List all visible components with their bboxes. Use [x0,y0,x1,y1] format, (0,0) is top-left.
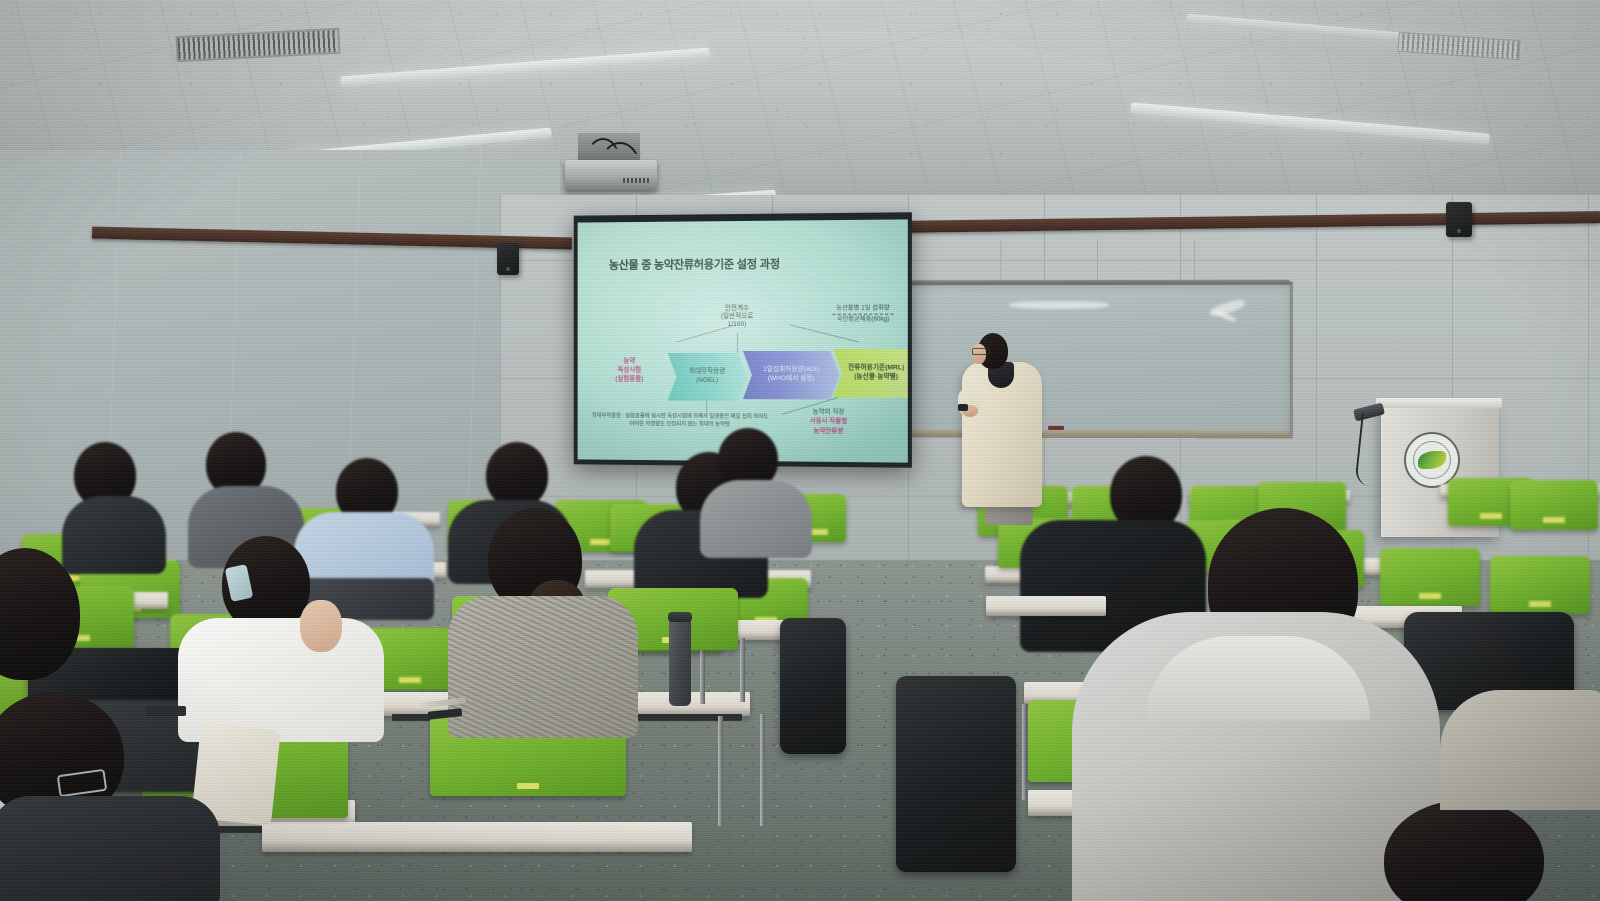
student-torso [700,480,812,558]
residue-note-line-3: 농약잔류량 [780,426,877,436]
desk-leg-5 [1022,704,1027,800]
noel-line-2: (NOEL) [689,377,725,386]
projected-slide: 농산물 중 농약잔류허용기준 설정 과정 안전계수 (일반적으로 1/100) … [578,219,908,462]
whiteboard-marker[interactable] [1048,426,1064,430]
chair-back-13[interactable] [1510,480,1598,530]
toxicity-line-2: 독성시험 [593,366,665,375]
student-torso [1440,690,1600,810]
crest-leaf-shape [1418,451,1446,469]
student-head [486,442,548,508]
desk-leg-2 [760,714,765,826]
slide-intake-fraction-box: 농산물별 1일 섭취량 국민평균체중(60kg) [824,305,901,324]
slide-toxicity-test-label: 농약 독성시험 (실험동물) [593,357,665,385]
lecture-hall-photo: 농산물 중 농약잔류허용기준 설정 과정 안전계수 (일반적으로 1/100) … [0,0,1600,901]
intake-denominator: 국민평균체중(60kg) [824,315,901,323]
lectern-top [1376,398,1502,408]
slide-safety-factor-box: 안전계수 (일반적으로 1/100) [702,305,772,330]
safety-factor-line-2: (일반적으로 [702,313,772,321]
toxicity-line-3: (실험동물) [593,375,665,384]
intake-numerator: 농산물별 1일 섭취량 [824,305,901,313]
student-hand [300,600,342,652]
crest-inner-ring [1413,441,1451,479]
toxicity-line-1: 농약 [593,357,665,366]
wall-speaker-left [497,243,519,275]
adi-line-2: (WHO에서 설정) [763,375,819,384]
whiteboard-erasure-mark-1 [1009,301,1109,309]
desk-right-mid [986,596,1106,616]
backpack-right[interactable] [896,676,1016,872]
slide-chevron-mrl: 잔류허용기준(MRL) (농산물·농약별) [833,349,907,398]
lecturer-glasses-icon [972,348,990,355]
slide-noel-definition-note: 최대무작용량 : 실험동물에 실시한 독성시험에 의해서 일생동안 매일 섭취 … [591,412,769,429]
ceiling-projector [565,160,657,190]
chair-mid-10[interactable] [1490,556,1590,614]
chair-mid-9[interactable] [1380,548,1480,606]
slide-title: 농산물 중 농약잔류허용기준 설정 과정 [609,255,858,273]
student-torso [62,496,166,574]
phone-on-desk-left[interactable] [146,706,186,716]
connector-safety-to-adi [737,333,738,353]
water-tumbler-cap[interactable] [668,612,692,622]
mrl-line-2: (농산물·농약별) [848,373,904,382]
student-torso [0,796,220,901]
desk-front-center [262,822,692,852]
slide-residue-note: 농약의 적정 사용시 작물별 농약잔류량 [780,407,877,436]
wall-speaker-right [1446,202,1472,237]
whiteboard-upper-panel [904,240,1290,283]
desk-leg-4 [740,638,745,702]
safety-factor-line-3: 1/100) [702,321,772,329]
student-torso [448,596,638,738]
mrl-line-1: 잔류허용기준(MRL) [848,365,904,374]
connector-line-top-2 [790,324,859,342]
water-tumbler[interactable] [669,616,691,706]
noel-line-1: 최대무작용량 [689,368,725,377]
backpack-center[interactable] [780,618,846,754]
desk-leg-1 [718,716,723,826]
presentation-clicker[interactable] [958,404,968,411]
slide-chevron-adi: 1일섭취허용량(ADI) (WHO에서 설정) [743,351,840,399]
slide-chevron-noel: 최대무작용량 (NOEL) [668,353,747,401]
adi-line-1: 1일섭취허용량(ADI) [763,366,819,375]
fraction-divider [832,313,893,314]
